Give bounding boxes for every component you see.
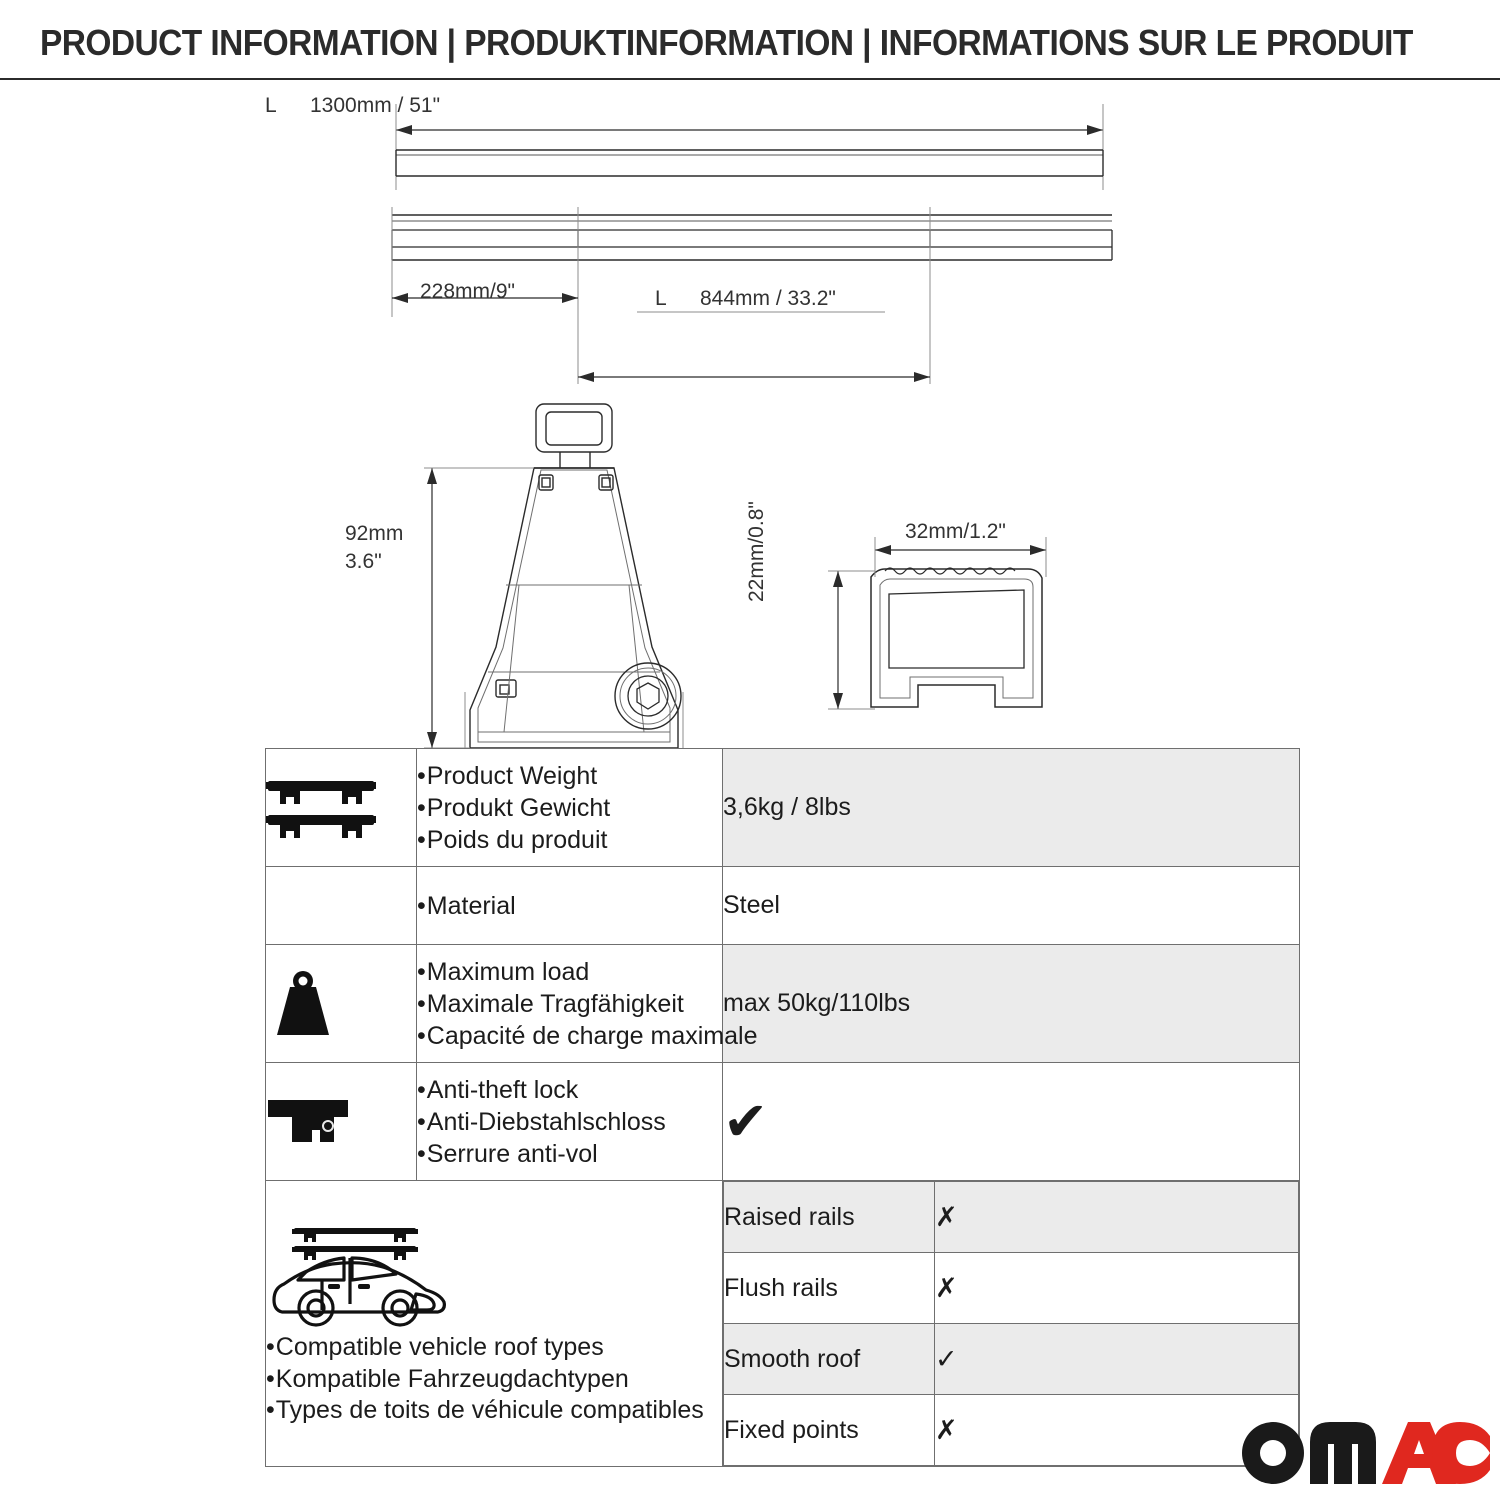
row-label-material: Material xyxy=(417,867,723,945)
compatibility-label-cell: Compatible vehicle roof types Kompatible… xyxy=(266,1181,723,1467)
table-row: Maximum load Maximale Tragfähigkeit Capa… xyxy=(266,945,1300,1063)
roof-type-row: Flush rails ✗ xyxy=(724,1253,1299,1324)
roof-type-name: Raised rails xyxy=(724,1182,935,1253)
row-value-maximum-load: max 50kg/110lbs xyxy=(723,945,1300,1063)
weight-icon xyxy=(266,945,417,1063)
table-row: Product Weight Produkt Gewicht Poids du … xyxy=(266,749,1300,867)
table-row: Anti-theft lock Anti-Diebstahlschloss Se… xyxy=(266,1063,1300,1181)
row-value-anti-theft-lock: ✔ xyxy=(723,1063,1300,1181)
foot-height-dim-line2: 3.6" xyxy=(345,550,382,574)
roof-type-support: ✓ xyxy=(935,1324,1299,1395)
label-fr: Poids du produit xyxy=(417,824,722,856)
label-en: Anti-theft lock xyxy=(417,1074,722,1106)
car-with-roof-bars-icon-glyph xyxy=(266,1220,462,1328)
span-dim-value: 844mm / 33.2" xyxy=(700,287,836,311)
label-de: Maximale Tragfähigkeit xyxy=(417,988,722,1020)
label-en: Compatible vehicle roof types xyxy=(266,1332,722,1364)
omac-logo xyxy=(1240,1420,1490,1482)
check-icon: ✓ xyxy=(935,1344,958,1374)
title-divider xyxy=(0,78,1500,80)
product-spec-table: Product Weight Produkt Gewicht Poids du … xyxy=(265,748,1300,1467)
omac-logo-glyph xyxy=(1240,1420,1490,1486)
page-title: PRODUCT INFORMATION | PRODUKTINFORMATION… xyxy=(40,22,1370,64)
label-de: Kompatible Fahrzeugdachtypen xyxy=(266,1364,722,1396)
roof-type-row: Fixed points ✗ xyxy=(724,1395,1299,1466)
span-dim-letter: L xyxy=(655,287,667,311)
car-with-roof-bars-icon xyxy=(266,1220,722,1328)
label-fr: Serrure anti-vol xyxy=(417,1138,722,1170)
label-en: Material xyxy=(417,890,722,922)
cross-icon: ✗ xyxy=(935,1202,958,1232)
roof-type-support: ✗ xyxy=(935,1253,1299,1324)
roof-type-support: ✗ xyxy=(935,1182,1299,1253)
roof-type-name: Smooth roof xyxy=(724,1324,935,1395)
label-en: Product Weight xyxy=(417,760,722,792)
lock-icon xyxy=(266,1063,417,1181)
roof-type-row: Raised rails ✗ xyxy=(724,1182,1299,1253)
cross-icon: ✗ xyxy=(935,1415,958,1445)
roof-type-table: Raised rails ✗ Flush rails ✗ xyxy=(723,1181,1299,1466)
foot-offset-dim: 228mm/9" xyxy=(420,280,515,304)
row-value-product-weight: 3,6kg / 8lbs xyxy=(723,749,1300,867)
profile-height-dim: 22mm/0.8" xyxy=(745,501,769,602)
label-de: Produkt Gewicht xyxy=(417,792,722,824)
material-icon-placeholder xyxy=(266,867,417,945)
roof-type-name: Fixed points xyxy=(724,1395,935,1466)
foot-height-dim-line1: 92mm xyxy=(345,522,403,546)
crossbars-icon xyxy=(266,749,417,867)
drawing-vectors xyxy=(0,82,1500,722)
row-label-maximum-load: Maximum load Maximale Tragfähigkeit Capa… xyxy=(417,945,723,1063)
table-row-compatibility: Compatible vehicle roof types Kompatible… xyxy=(266,1181,1300,1467)
row-label-anti-theft-lock: Anti-theft lock Anti-Diebstahlschloss Se… xyxy=(417,1063,723,1181)
profile-width-dim: 32mm/1.2" xyxy=(905,520,1006,544)
table-row: Material Steel xyxy=(266,867,1300,945)
check-icon: ✔ xyxy=(723,1092,768,1152)
roof-type-subtable-cell: Raised rails ✗ Flush rails ✗ xyxy=(723,1181,1300,1467)
roof-type-row: Smooth roof ✓ xyxy=(724,1324,1299,1395)
label-en: Maximum load xyxy=(417,956,722,988)
label-fr: Types de toits de véhicule compatibles xyxy=(266,1395,722,1427)
label-de: Anti-Diebstahlschloss xyxy=(417,1106,722,1138)
lock-icon-glyph xyxy=(266,1094,352,1150)
label-fr: Capacité de charge maximale xyxy=(417,1020,722,1052)
row-label-product-weight: Product Weight Produkt Gewicht Poids du … xyxy=(417,749,723,867)
crossbars-icon-glyph xyxy=(266,775,376,841)
cross-icon: ✗ xyxy=(935,1273,958,1303)
row-value-material: Steel xyxy=(723,867,1300,945)
weight-icon-glyph xyxy=(266,969,340,1039)
roof-type-name: Flush rails xyxy=(724,1253,935,1324)
compatibility-labels: Compatible vehicle roof types Kompatible… xyxy=(266,1332,722,1427)
technical-drawing: L 1300mm / 51" xyxy=(0,82,1500,722)
